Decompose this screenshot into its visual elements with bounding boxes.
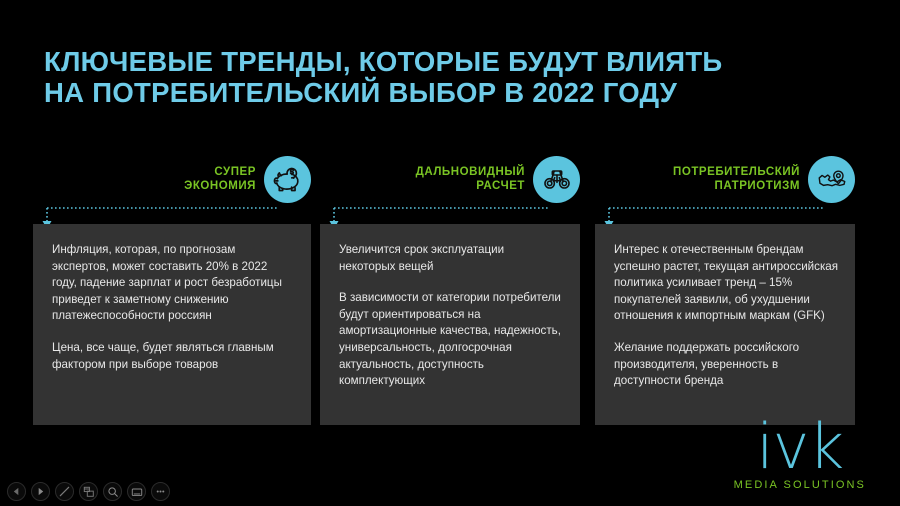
more-options-button[interactable] [151,482,170,501]
trend-header: ПОТРЕБИТЕЛЬСКИЙ ПАТРИОТИЗМ [673,150,855,208]
duplicate-button[interactable] [79,482,98,501]
slide-canvas: КЛЮЧЕВЫЕ ТРЕНДЫ, КОТОРЫЕ БУДУТ ВЛИЯТЬ НА… [0,0,900,506]
triangle-right-icon [36,487,45,496]
magnifier-icon [107,486,119,498]
triangle-left-icon [12,487,21,496]
ellipsis-icon [154,485,167,498]
logo-tagline: MEDIA SOLUTIONS [734,478,866,492]
trend-header-label: ПОТРЕБИТЕЛЬСКИЙ ПАТРИОТИЗМ [673,165,800,193]
trend-columns: СУПЕР ЭКОНОМИЯ [0,150,900,425]
presentation-view-button[interactable] [127,482,146,501]
trend-column-super-ekonomiya: СУПЕР ЭКОНОМИЯ [33,150,311,425]
trend-body-panel: Инфляция, которая, по прогнозам эксперто… [33,224,311,425]
trend-header: СУПЕР ЭКОНОМИЯ [184,150,311,208]
trend-header-label: СУПЕР ЭКОНОМИЯ [184,165,256,193]
trend-body-panel: Увеличится срок эксплуатации некоторых в… [320,224,580,425]
binoculars-icon [533,156,580,203]
trend-header: ДАЛЬНОВИДНЫЙ РАСЧЕТ [416,150,580,208]
trend-paragraph: Интерес к отечественным брендам успешно … [614,242,838,325]
piggy-bank-icon [264,156,311,203]
slideshow-toolbar [7,482,170,501]
logo-wordmark: ivk [734,420,866,474]
trend-body-panel: Интерес к отечественным брендам успешно … [595,224,855,425]
trend-paragraph: Увеличится срок эксплуатации некоторых в… [339,242,563,275]
previous-slide-button[interactable] [7,482,26,501]
trend-paragraph: Желание поддержать российского производи… [614,340,838,390]
pen-tool-button[interactable] [55,482,74,501]
trend-paragraph: Инфляция, которая, по прогнозам эксперто… [52,242,294,325]
page-title: КЛЮЧЕВЫЕ ТРЕНДЫ, КОТОРЫЕ БУДУТ ВЛИЯТЬ НА… [44,46,834,108]
copy-icon [83,486,95,498]
screen-icon [131,486,143,498]
russia-map-pin-icon [808,156,855,203]
trend-paragraph: В зависимости от категории потребители б… [339,290,563,390]
next-slide-button[interactable] [31,482,50,501]
pen-icon [58,485,71,498]
trend-header-label: ДАЛЬНОВИДНЫЙ РАСЧЕТ [416,165,525,193]
zoom-button[interactable] [103,482,122,501]
trend-column-potrebitelskiy-patriotizm: ПОТРЕБИТЕЛЬСКИЙ ПАТРИОТИЗМ Интерес к оте… [595,150,855,425]
trend-column-dalnovidnyy-raschet: ДАЛЬНОВИДНЫЙ РАСЧЕТ [320,150,580,425]
trend-paragraph: Цена, все чаще, будет являться главным ф… [52,340,294,373]
brand-logo: ivk MEDIA SOLUTIONS [734,420,866,492]
